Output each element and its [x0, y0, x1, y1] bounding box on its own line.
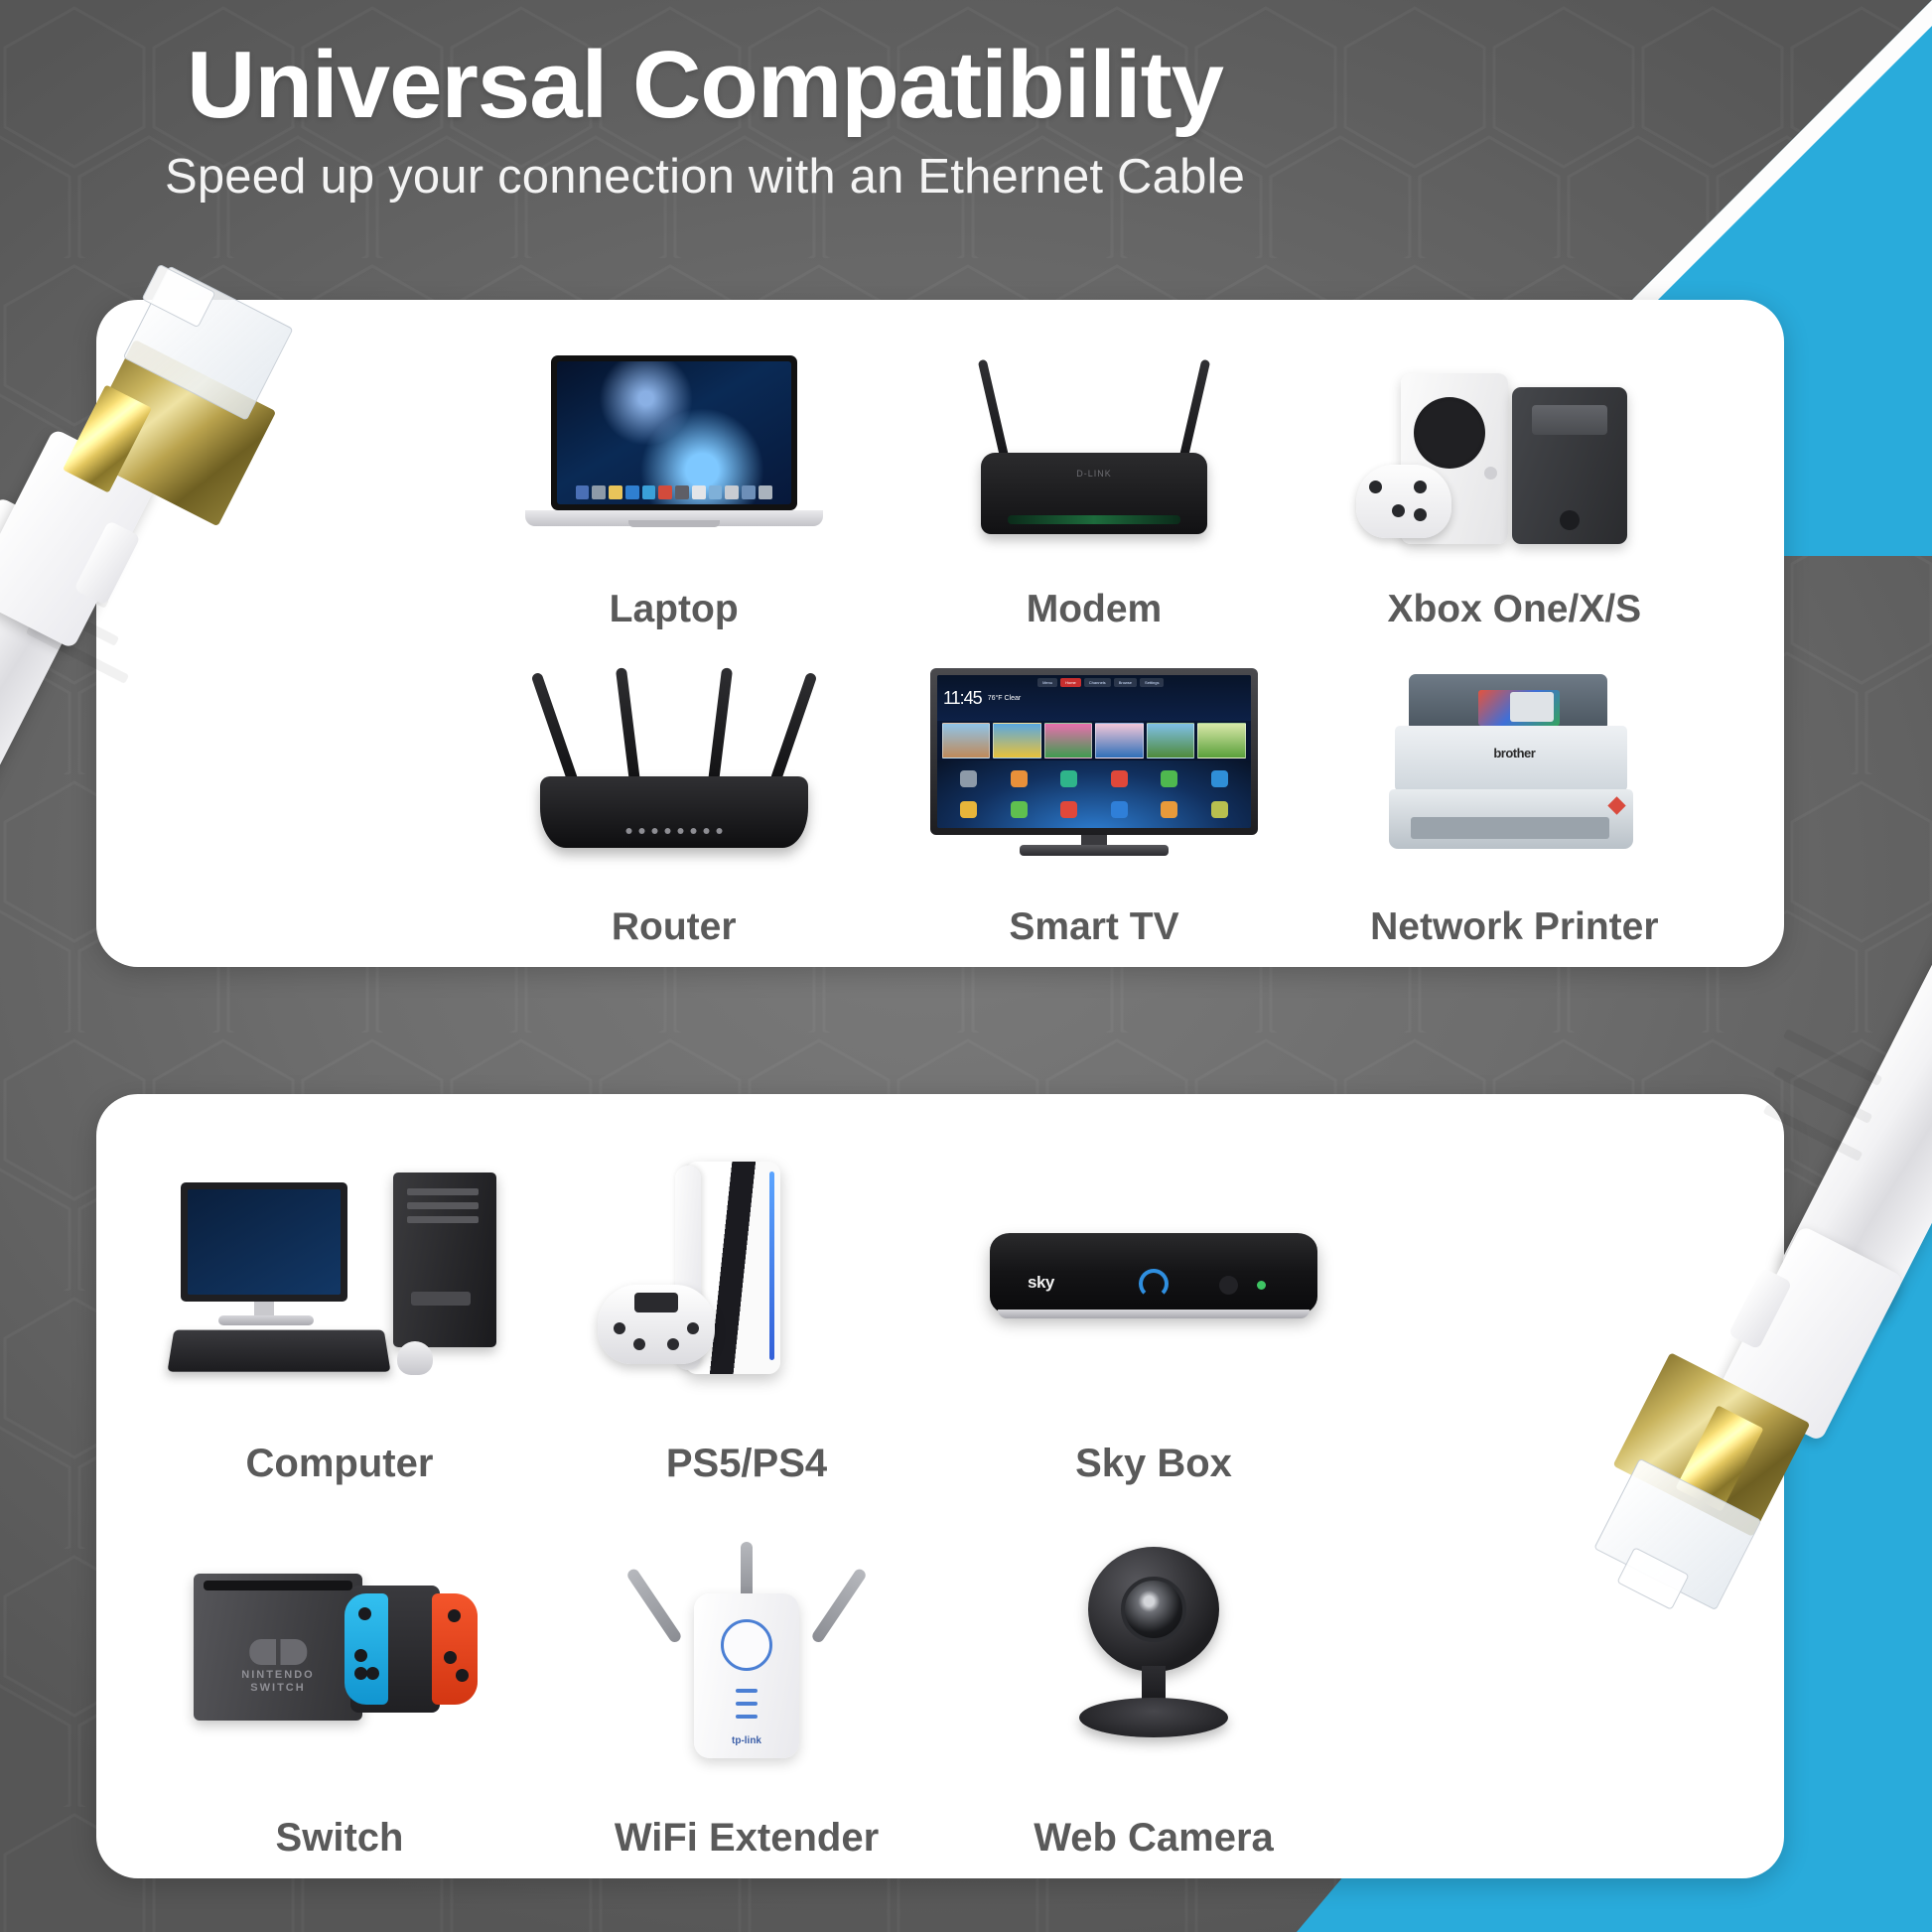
tv-nav-bar: Menu Home Channels Browse Settings: [1037, 678, 1164, 687]
tv-clock: 11:45: [943, 689, 982, 707]
device-cell-switch: NINTENDO SWITCH Switch: [136, 1490, 543, 1864]
device-label-computer: Computer: [246, 1442, 434, 1486]
device-grid-bottom: Computer PS5/PS4 sky: [96, 1094, 1784, 1878]
device-label-wifi-extender: WiFi Extender: [615, 1816, 879, 1861]
printer-icon: brother: [1365, 668, 1663, 867]
laptop-icon: [525, 355, 823, 544]
device-cell-xbox: Xbox One/X/S: [1305, 318, 1725, 635]
dualsense-controller-icon: [598, 1285, 715, 1364]
device-label-xbox: Xbox One/X/S: [1387, 588, 1641, 631]
web-camera-icon: [1039, 1541, 1268, 1759]
device-cell-web-camera: Web Camera: [950, 1490, 1357, 1864]
device-label-playstation: PS5/PS4: [666, 1442, 827, 1486]
switch-artwork: NINTENDO SWITCH: [136, 1490, 543, 1810]
switch-brand-line1: NINTENDO: [241, 1669, 314, 1682]
device-grid-top: Laptop D-LINK Modem: [96, 300, 1784, 967]
header: Universal Compatibility Speed up your co…: [0, 0, 1410, 205]
compatibility-panel-top: Laptop D-LINK Modem: [96, 300, 1784, 967]
device-label-sky-box: Sky Box: [1075, 1442, 1232, 1486]
device-label-router: Router: [612, 905, 737, 949]
web-camera-artwork: [950, 1490, 1357, 1810]
device-label-modem: Modem: [1027, 588, 1163, 631]
xbox-artwork: [1305, 318, 1725, 582]
switch-logo-icon: [249, 1639, 307, 1665]
device-cell-computer: Computer: [136, 1116, 543, 1490]
device-cell-smart-tv: 11:45 76°F Clear Menu Home Channels Brow…: [884, 635, 1304, 953]
device-label-web-camera: Web Camera: [1034, 1816, 1274, 1861]
router-icon: [520, 673, 828, 862]
computer-artwork: [136, 1116, 543, 1436]
tv-nav-menu: Menu: [1037, 678, 1057, 687]
xbox-console-icon: [1360, 355, 1668, 544]
page-subtitle: Speed up your connection with an Etherne…: [0, 149, 1410, 205]
device-cell-modem: D-LINK Modem: [884, 318, 1304, 635]
router-artwork: [464, 635, 884, 899]
tv-temperature: 76°F: [988, 695, 1003, 702]
nintendo-switch-icon: NINTENDO SWITCH: [176, 1556, 503, 1744]
device-label-laptop: Laptop: [610, 588, 739, 631]
device-label-printer: Network Printer: [1370, 905, 1658, 949]
laptop-artwork: [464, 318, 884, 582]
page-title: Universal Compatibility: [0, 34, 1410, 137]
joycon-right-icon: [432, 1593, 478, 1705]
joycon-left-icon: [345, 1593, 388, 1705]
tv-weather: Clear: [1005, 695, 1022, 702]
playstation-artwork: [543, 1116, 950, 1436]
smart-tv-artwork: 11:45 76°F Clear Menu Home Channels Brow…: [884, 635, 1304, 899]
device-cell-router: Router: [464, 635, 884, 953]
compatibility-panel-bottom: Computer PS5/PS4 sky: [96, 1094, 1784, 1878]
playstation-console-icon: [598, 1162, 896, 1390]
device-label-smart-tv: Smart TV: [1009, 905, 1178, 949]
device-cell-wifi-extender: tp-link WiFi Extender: [543, 1490, 950, 1864]
tv-nav-home: Home: [1060, 678, 1081, 687]
smart-tv-icon: 11:45 76°F Clear Menu Home Channels Brow…: [930, 668, 1258, 867]
device-cell-laptop: Laptop: [464, 318, 884, 635]
device-cell-printer: brother Network Printer: [1305, 635, 1725, 953]
sky-brand-label: sky: [1028, 1273, 1054, 1293]
modem-icon: D-LINK: [945, 355, 1243, 544]
sky-box-icon: sky: [990, 1211, 1317, 1340]
device-label-switch: Switch: [276, 1816, 404, 1861]
device-cell-playstation: PS5/PS4: [543, 1116, 950, 1490]
switch-brand-line2: SWITCH: [241, 1682, 314, 1695]
sky-box-artwork: sky: [950, 1116, 1357, 1436]
tv-nav-channels: Channels: [1084, 678, 1111, 687]
desktop-computer-icon: [171, 1167, 508, 1385]
keyboard-icon: [167, 1330, 390, 1372]
tv-nav-settings: Settings: [1140, 678, 1164, 687]
xbox-controller-icon: [1356, 465, 1451, 538]
printer-artwork: brother: [1305, 635, 1725, 899]
printer-brand-label: brother: [1493, 746, 1535, 760]
mouse-icon: [397, 1341, 433, 1375]
wifi-extender-artwork: tp-link: [543, 1490, 950, 1810]
wifi-extender-icon: tp-link: [632, 1536, 861, 1764]
tv-nav-browse: Browse: [1114, 678, 1137, 687]
device-cell-sky-box: sky Sky Box: [950, 1116, 1357, 1490]
tplink-brand-label: tp-link: [732, 1735, 761, 1746]
modem-artwork: D-LINK: [884, 318, 1304, 582]
sky-q-icon: [1139, 1269, 1169, 1299]
